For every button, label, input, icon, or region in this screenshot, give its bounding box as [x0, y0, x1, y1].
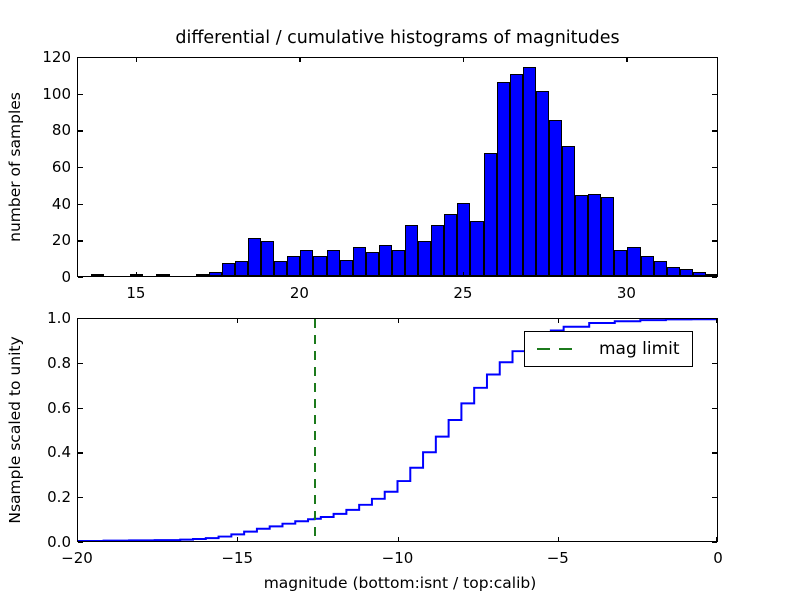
histogram-bar — [353, 247, 366, 276]
histogram-bar — [627, 247, 640, 276]
histogram-bar — [248, 238, 261, 277]
histogram-y-tick-label: 60 — [29, 158, 71, 176]
histogram-bar — [379, 245, 392, 276]
histogram-bar — [366, 252, 379, 276]
histogram-bar — [549, 120, 562, 276]
cumulative-x-tick-label: −10 — [382, 549, 414, 567]
axis-tick — [78, 130, 83, 131]
histogram-bar — [706, 274, 717, 276]
axis-tick — [558, 537, 559, 542]
histogram-bar — [654, 261, 667, 276]
axis-tick — [78, 542, 83, 543]
histogram-bar — [497, 82, 510, 276]
cumulative-y-tick-label: 0.0 — [29, 533, 71, 551]
cumulative-y-axis-label: Nsample scaled to unity — [6, 336, 24, 523]
axis-tick — [136, 272, 137, 277]
axis-tick — [626, 272, 627, 277]
histogram-bar — [510, 74, 523, 276]
histogram-bar — [405, 225, 418, 276]
axis-tick — [463, 58, 464, 62]
axis-tick — [558, 319, 559, 323]
histogram-bar — [641, 256, 654, 276]
axis-tick — [237, 537, 238, 542]
histogram-bar — [575, 195, 588, 276]
axis-tick — [712, 452, 717, 453]
histogram-bar — [693, 272, 706, 276]
histogram-bar — [680, 269, 693, 276]
axis-tick — [78, 497, 83, 498]
histogram-bar — [196, 274, 209, 276]
histogram-bar — [91, 274, 104, 276]
histogram-bar — [209, 272, 222, 276]
histogram-bar — [470, 221, 483, 276]
axis-tick — [398, 319, 399, 323]
histogram-bar — [313, 256, 326, 276]
axis-tick — [463, 272, 464, 277]
x-axis-label: magnitude (bottom:isnt / top:calib) — [0, 574, 800, 592]
histogram-bar — [418, 241, 431, 276]
cumulative-y-tick-label: 0.8 — [29, 354, 71, 372]
axis-tick — [712, 240, 717, 241]
legend-label-mag-limit: mag limit — [599, 339, 680, 359]
axis-tick — [77, 319, 78, 323]
histogram-bar — [261, 241, 274, 276]
histogram-bar — [484, 153, 497, 276]
cumulative-x-tick-label: −5 — [547, 549, 569, 567]
histogram-bar — [444, 214, 457, 276]
cumulative-y-tick-label: 0.4 — [29, 443, 71, 461]
histogram-y-tick-label: 100 — [29, 85, 71, 103]
axis-tick — [712, 363, 717, 364]
axis-tick — [626, 58, 627, 62]
axis-tick — [712, 542, 717, 543]
axis-tick — [78, 318, 83, 319]
axis-tick — [716, 319, 717, 323]
mag-limit-vline — [314, 319, 316, 541]
axis-tick — [136, 58, 137, 62]
histogram-bar — [235, 261, 248, 276]
histogram-x-tick-label: 15 — [126, 284, 145, 302]
histogram-bar — [536, 91, 549, 276]
histogram-bar — [588, 194, 601, 277]
histogram-y-tick-label: 40 — [29, 195, 71, 213]
histogram-bar — [274, 261, 287, 276]
cumulative-axes: mag limit — [77, 318, 718, 542]
axis-tick — [299, 272, 300, 277]
histogram-bar — [431, 225, 444, 276]
histogram-bar — [457, 203, 470, 276]
cumulative-x-tick-label: 0 — [713, 549, 723, 567]
histogram-y-axis-label: number of samples — [6, 92, 24, 242]
legend-dashed-line-swatch — [537, 348, 583, 350]
axis-tick — [78, 204, 83, 205]
chart-title: differential / cumulative histograms of … — [77, 28, 718, 48]
figure-canvas: differential / cumulative histograms of … — [0, 0, 800, 600]
axis-tick — [78, 452, 83, 453]
histogram-x-tick-label: 30 — [617, 284, 636, 302]
axis-tick — [712, 408, 717, 409]
histogram-x-tick-label: 20 — [290, 284, 309, 302]
cumulative-y-tick-label: 0.6 — [29, 399, 71, 417]
histogram-y-tick-label: 0 — [29, 268, 71, 286]
histogram-bar — [667, 267, 680, 276]
axis-tick — [78, 240, 83, 241]
histogram-bar — [523, 67, 536, 276]
histogram-x-tick-label: 25 — [453, 284, 472, 302]
axis-tick — [712, 318, 717, 319]
histogram-axes — [77, 57, 718, 277]
histogram-bar — [156, 274, 169, 276]
histogram-y-tick-label: 120 — [29, 48, 71, 66]
histogram-y-tick-label: 20 — [29, 231, 71, 249]
axis-tick — [299, 58, 300, 62]
axis-tick — [712, 204, 717, 205]
cumulative-x-tick-label: −20 — [61, 549, 93, 567]
histogram-bar — [562, 146, 575, 276]
axis-tick — [78, 94, 83, 95]
axis-tick — [712, 497, 717, 498]
histogram-plot-area — [78, 58, 717, 276]
histogram-bar — [340, 260, 353, 277]
legend[interactable]: mag limit — [524, 331, 693, 367]
axis-tick — [712, 57, 717, 58]
histogram-bar — [222, 263, 235, 276]
axis-tick — [78, 363, 83, 364]
axis-tick — [237, 319, 238, 323]
cumulative-y-tick-label: 1.0 — [29, 309, 71, 327]
axis-tick — [78, 277, 83, 278]
histogram-bar — [327, 250, 340, 276]
axis-tick — [712, 94, 717, 95]
axis-tick — [712, 130, 717, 131]
axis-tick — [398, 537, 399, 542]
axis-tick — [78, 167, 83, 168]
histogram-bar — [392, 250, 405, 276]
histogram-bar — [601, 197, 614, 276]
histogram-bar — [300, 250, 313, 276]
cumulative-y-tick-label: 0.2 — [29, 488, 71, 506]
axis-tick — [712, 167, 717, 168]
axis-tick — [78, 57, 83, 58]
axis-tick — [712, 277, 717, 278]
cumulative-x-tick-label: −15 — [221, 549, 253, 567]
axis-tick — [78, 408, 83, 409]
histogram-y-tick-label: 80 — [29, 121, 71, 139]
